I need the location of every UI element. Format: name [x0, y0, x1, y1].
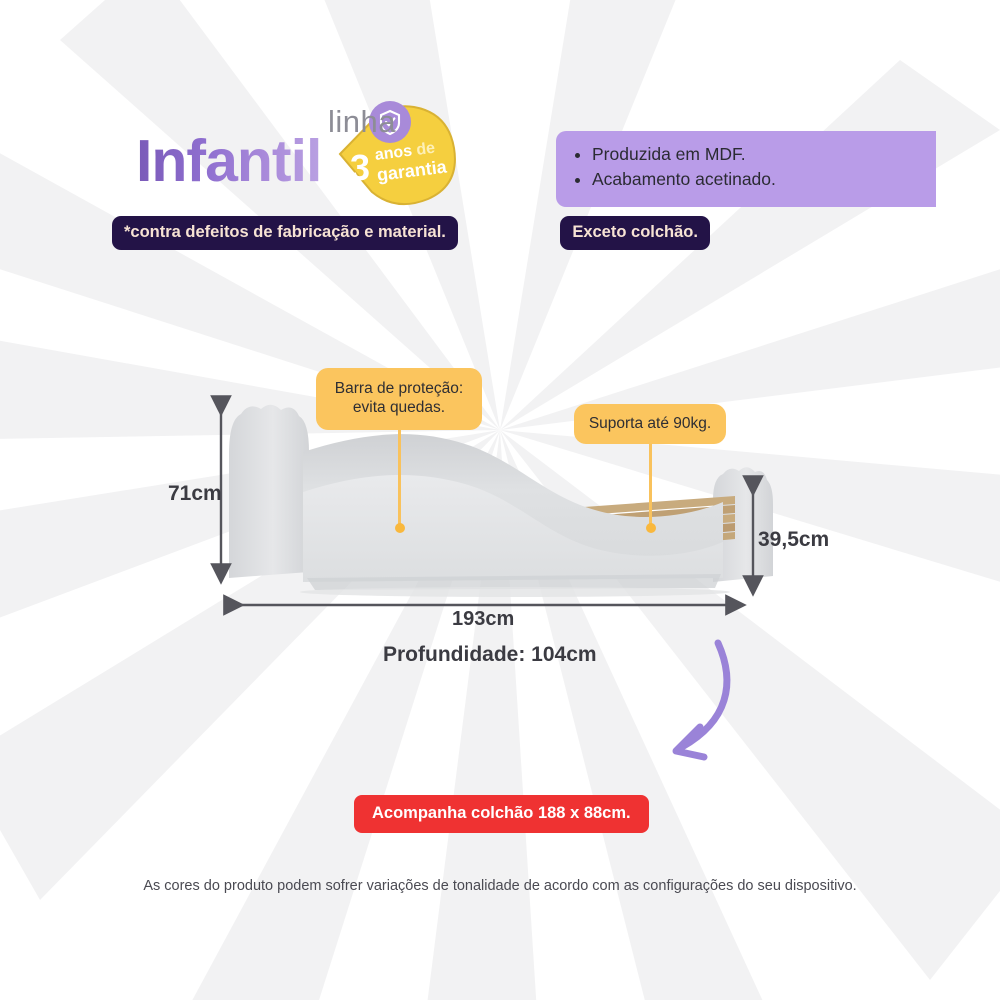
color-disclaimer-note: As cores do produto podem sofrer variaçõ… — [0, 878, 1000, 894]
brand-line-word: linha — [328, 106, 396, 137]
features-box: Produzida em MDF. Acabamento acetinado. — [556, 131, 936, 207]
curved-arrow-icon — [640, 635, 750, 765]
callout-barra-protecao-line1: Barra de proteção: — [324, 379, 474, 398]
callout-suporta-peso: Suporta até 90kg. — [574, 404, 726, 444]
product-infographic: 3 anos de garantia linha Infantil *contr… — [0, 0, 1000, 1000]
callout-suporta-peso-line1: Suporta até 90kg. — [582, 414, 718, 433]
brand-logo: linha Infantil — [118, 108, 478, 208]
feature-item: Acabamento acetinado. — [592, 167, 936, 192]
bed-headboard — [229, 405, 309, 578]
dimension-label-height: 71cm — [168, 482, 222, 506]
callout-leader-suporta-peso — [649, 443, 652, 525]
callout-barra-protecao: Barra de proteção: evita quedas. — [316, 368, 482, 430]
dimension-label-depth: Profundidade: 104cm — [383, 643, 597, 667]
warranty-disclaimer-line2: Exceto colchão. — [560, 216, 710, 250]
feature-item: Produzida em MDF. — [592, 142, 936, 167]
warranty-disclaimer: *contra defeitos de fabricação e materia… — [112, 214, 710, 250]
warranty-disclaimer-line1: *contra defeitos de fabricação e materia… — [112, 216, 458, 250]
bed-floor-shadow — [300, 587, 730, 597]
mattress-included-badge: Acompanha colchão 188 x 88cm. — [354, 795, 649, 833]
brand-name: Infantil — [136, 132, 321, 191]
dimension-label-seat-height: 39,5cm — [758, 528, 829, 552]
callout-barra-protecao-line2: evita quedas. — [324, 398, 474, 417]
dimension-label-width: 193cm — [452, 608, 514, 631]
